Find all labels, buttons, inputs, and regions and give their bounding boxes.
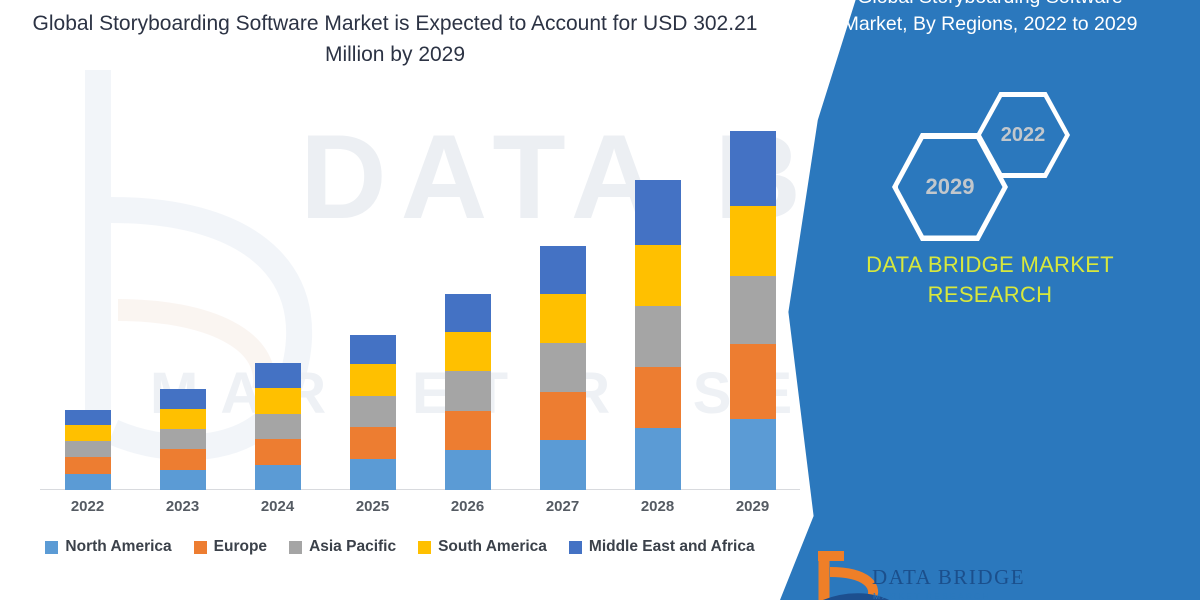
brand-panel: Global Storyboarding Software Market, By… <box>780 0 1200 600</box>
legend-label: South America <box>438 538 547 556</box>
bar-segment[interactable] <box>65 425 111 441</box>
bar-segment[interactable] <box>635 180 681 245</box>
bar-segment[interactable] <box>445 332 491 372</box>
bar-segment[interactable] <box>65 474 111 490</box>
x-axis-line <box>40 489 800 490</box>
bar-segment[interactable] <box>350 335 396 364</box>
bar-segment[interactable] <box>160 449 206 469</box>
legend-item[interactable]: Europe <box>194 538 267 556</box>
legend-item[interactable]: Middle East and Africa <box>569 538 755 556</box>
legend-swatch-icon <box>194 541 207 554</box>
x-axis-label-2028: 2028 <box>613 498 703 515</box>
bar-segment[interactable] <box>730 419 776 490</box>
infographic-root: DATA BRIDGE MARKET RESEARCH Global Story… <box>0 0 1200 600</box>
legend-swatch-icon <box>569 541 582 554</box>
x-axis-label-2029: 2029 <box>708 498 798 515</box>
bar-segment[interactable] <box>255 388 301 413</box>
chart-legend: North AmericaEuropeAsia PacificSouth Ame… <box>0 538 800 556</box>
bar-segment[interactable] <box>540 246 586 295</box>
bar-segment[interactable] <box>255 414 301 439</box>
bar-group-2028[interactable] <box>635 180 681 490</box>
panel-title-line1: Global Storyboarding Software <box>794 0 1186 11</box>
legend-label: Asia Pacific <box>309 538 396 556</box>
legend-item[interactable]: Asia Pacific <box>289 538 396 556</box>
bar-segment[interactable] <box>445 294 491 332</box>
bar-group-2022[interactable] <box>65 410 111 491</box>
panel-title-line2: Market, By Regions, 2022 to 2029 <box>794 11 1186 38</box>
bar-group-2025[interactable] <box>350 335 396 490</box>
legend-item[interactable]: North America <box>45 538 171 556</box>
chart-title: Global Storyboarding Software Market is … <box>0 8 790 70</box>
bar-segment[interactable] <box>255 363 301 388</box>
bar-segment[interactable] <box>635 428 681 490</box>
svg-text:MARKET RESEARCH: MARKET RESEARCH <box>873 591 991 600</box>
x-axis-label-2023: 2023 <box>138 498 228 515</box>
bar-segment[interactable] <box>350 396 396 427</box>
brand-line-1: DATA BRIDGE MARKET <box>780 250 1200 280</box>
bar-segment[interactable] <box>445 411 491 451</box>
bar-group-2029[interactable] <box>730 131 776 490</box>
bar-segment[interactable] <box>445 371 491 411</box>
bar-segment[interactable] <box>635 367 681 428</box>
bar-segment[interactable] <box>540 440 586 490</box>
brand-line-2: RESEARCH <box>780 280 1200 310</box>
bar-segment[interactable] <box>160 409 206 429</box>
bar-segment[interactable] <box>730 344 776 419</box>
bar-segment[interactable] <box>635 245 681 306</box>
legend-label: Middle East and Africa <box>589 538 755 556</box>
bar-segment[interactable] <box>65 441 111 457</box>
panel-title: Global Storyboarding Software Market, By… <box>780 0 1200 38</box>
bar-segment[interactable] <box>540 392 586 441</box>
bar-segment[interactable] <box>160 429 206 449</box>
chart-plot-area <box>40 110 800 490</box>
bar-segment[interactable] <box>445 450 491 490</box>
bar-group-2027[interactable] <box>540 246 586 491</box>
legend-label: Europe <box>214 538 267 556</box>
x-axis-label-2025: 2025 <box>328 498 418 515</box>
bar-segment[interactable] <box>730 276 776 344</box>
bar-segment[interactable] <box>255 439 301 464</box>
x-axis-labels: 20222023202420252026202720282029 <box>40 498 800 522</box>
data-bridge-logo: DATA BRIDGE MARKET RESEARCH <box>810 546 1040 600</box>
svg-text:DATA BRIDGE: DATA BRIDGE <box>872 565 1025 589</box>
bar-segment[interactable] <box>65 410 111 425</box>
bar-group-2026[interactable] <box>445 294 491 490</box>
bar-segment[interactable] <box>255 465 301 490</box>
legend-item[interactable]: South America <box>418 538 547 556</box>
bar-segment[interactable] <box>350 427 396 458</box>
legend-swatch-icon <box>45 541 58 554</box>
legend-label: North America <box>65 538 171 556</box>
brand-name: DATA BRIDGE MARKET RESEARCH <box>780 250 1200 310</box>
bar-segment[interactable] <box>65 457 111 473</box>
legend-swatch-icon <box>418 541 431 554</box>
bar-segment[interactable] <box>160 470 206 490</box>
hexagon-group: 2022 2029 <box>780 88 1200 228</box>
bar-group-2023[interactable] <box>160 389 206 490</box>
bar-segment[interactable] <box>350 364 396 395</box>
x-axis-label-2027: 2027 <box>518 498 608 515</box>
bar-segment[interactable] <box>730 206 776 276</box>
x-axis-label-2024: 2024 <box>233 498 323 515</box>
bar-segment[interactable] <box>540 294 586 343</box>
bar-segment[interactable] <box>635 306 681 367</box>
hexagon-2029-label: 2029 <box>892 133 1008 241</box>
bar-segment[interactable] <box>350 459 396 490</box>
bar-group-2024[interactable] <box>255 363 301 490</box>
bar-segment[interactable] <box>540 343 586 392</box>
legend-swatch-icon <box>289 541 302 554</box>
bar-segment[interactable] <box>730 131 776 206</box>
bar-segment[interactable] <box>160 389 206 408</box>
x-axis-label-2022: 2022 <box>43 498 133 515</box>
x-axis-label-2026: 2026 <box>423 498 513 515</box>
